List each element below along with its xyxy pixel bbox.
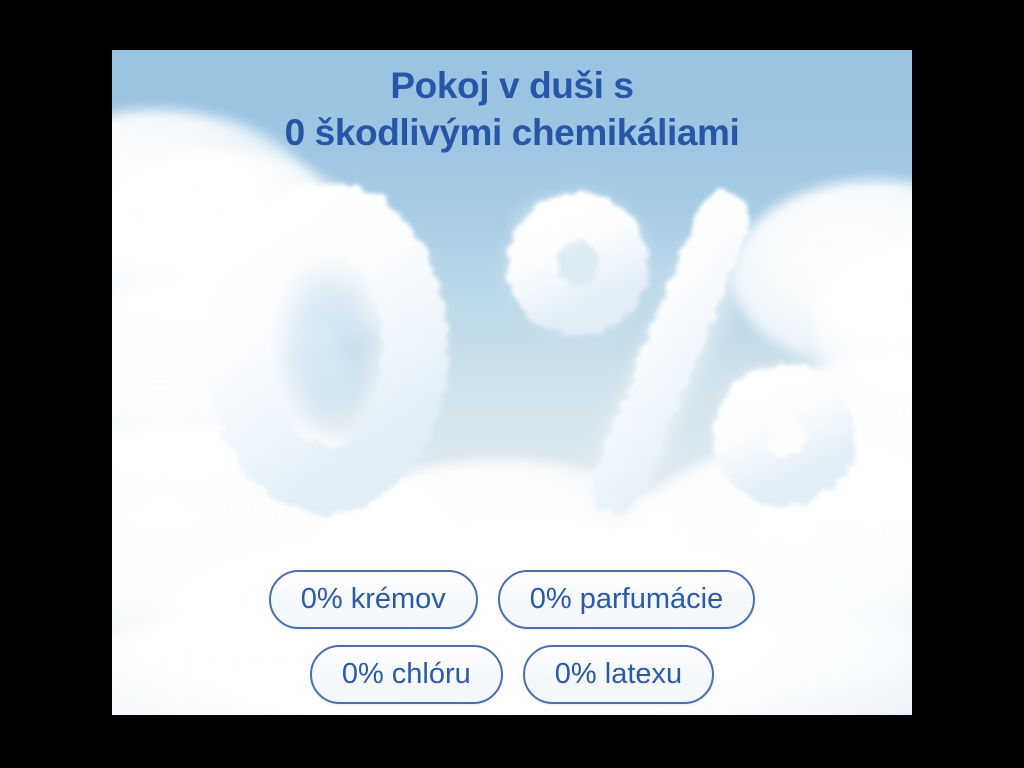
claim-pill-kremov[interactable]: 0% krémov xyxy=(269,570,478,629)
headline-line-2: 0 škodlivými chemikáliami xyxy=(112,109,912,156)
cloud-text-svg xyxy=(112,168,912,528)
cloud-zero-percent-graphic xyxy=(112,168,912,528)
claims-pill-row-1: 0% krémov 0% parfumácie xyxy=(112,570,912,629)
cloud-top-right-b xyxy=(812,240,912,400)
claim-pill-latexu[interactable]: 0% latexu xyxy=(523,645,714,704)
cloud-promo-banner: Pokoj v duši s 0 škodlivými chemikáliami xyxy=(112,50,912,715)
claim-pill-chloru[interactable]: 0% chlóru xyxy=(310,645,503,704)
cloud-left-mid xyxy=(112,280,352,480)
cloud-right-mid xyxy=(752,350,912,530)
headline: Pokoj v duši s 0 škodlivými chemikáliami xyxy=(112,62,912,156)
cloud-top-left-c xyxy=(172,200,412,350)
cloud-top-left-b xyxy=(112,150,362,330)
screenshot-canvas: Pokoj v duši s 0 škodlivými chemikáliami xyxy=(0,0,1024,768)
cloud-glyph-glow xyxy=(219,198,848,500)
claim-pill-parfumacie[interactable]: 0% parfumácie xyxy=(498,570,755,629)
cloud-glyph-highlights xyxy=(238,208,796,420)
cloud-top-right-a xyxy=(732,180,912,370)
headline-line-1: Pokoj v duši s xyxy=(112,62,912,109)
claims-pill-row-2: 0% chlóru 0% latexu xyxy=(112,645,912,704)
claims-pill-group: 0% krémov 0% parfumácie 0% chlóru 0% lat… xyxy=(112,570,912,715)
cloud-glyph-body xyxy=(239,215,830,486)
